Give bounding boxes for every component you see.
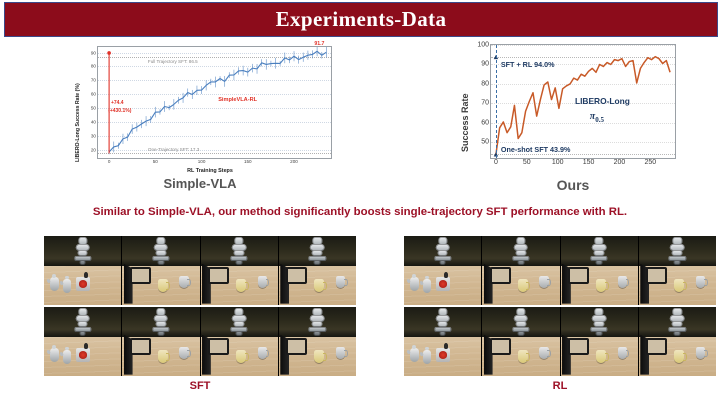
filmstrip-frame [482,236,560,305]
annotation-benchmark-name: LIBERO-Long [575,96,630,106]
robot-segment [79,260,86,265]
right-chart-caption: Ours [456,177,690,193]
slide-title-bar: Experiments-Data [4,2,718,37]
left-chart-y-axis-label: LIBERO-Long Success Rate (%) [75,83,81,162]
x-axis-tick: 100 [552,159,564,166]
robot-segment [157,260,164,265]
mug-grey [258,276,267,288]
kettle-spout [419,280,424,285]
filmstrip-frame [482,307,560,376]
filmstrip-frame [561,307,639,376]
stove-knob [444,272,448,278]
x-axis-tick: 100 [198,159,206,164]
robot-arm-top [151,237,171,266]
robot-segment [236,331,243,336]
filmstrip-frame [404,307,482,376]
x-axis-tick: 0 [108,159,111,164]
mug-grey [696,276,705,288]
robot-arm-top [229,308,249,337]
kettle-object [50,277,58,291]
mug-handle [323,282,327,290]
x-axis-tick: 250 [644,159,656,166]
stove-burner [79,280,88,287]
robot-arm-top [307,308,327,337]
kettle-object [423,279,431,293]
left-chart-plot-area: 2030405060708090050100150200Full Traject… [97,46,332,159]
gripper-arm [562,264,585,304]
mid-caption: Similar to Simple-VLA, our method signif… [0,206,720,218]
mug-handle [605,353,609,361]
y-axis-tick: 60 [481,119,489,126]
y-axis-tick: 80 [91,64,96,69]
annotation-delta-percent: (+430.1%) [108,108,131,114]
y-axis-tick: 80 [481,80,489,87]
mug-yellow [236,350,246,363]
annotation-full-trajectory-sft: Full Trajectory SFT: 86.5 [148,59,198,64]
mug-handle [245,353,249,361]
series-line [98,47,331,158]
y-axis-tick: 70 [481,100,489,107]
kettle-lid [52,274,56,278]
robot-arm-top [589,308,609,337]
robot-arm-top [511,308,531,337]
mug-handle [344,350,348,357]
gripper-panel [130,338,151,356]
robot-segment [236,260,243,265]
robot-arm-top [667,237,687,266]
mug-grey [696,347,705,359]
robot-segment [314,260,321,265]
stove-object [436,348,449,361]
filmstrip-frame [44,236,122,305]
annotation-sft-plus-rl: SFT + RL 94.0% [501,60,555,69]
robot-segment [157,331,164,336]
annotation-one-shot-sft: One-shot SFT 43.9% [501,145,571,154]
y-axis-tick: 50 [481,139,489,146]
page-title: Experiments-Data [276,7,447,32]
kettle-spout [59,351,64,356]
filmstrip-frame [639,236,716,305]
filmstrip-frame [122,307,200,376]
filmstrip-row [404,307,716,376]
robot-segment [596,331,603,336]
kettle-lid [52,345,56,349]
filmstrip-label-sft: SFT [44,380,356,392]
annotation-one-trajectory-sft: One-Trajectory SFT: 17.3 [148,147,199,152]
series-legend-label: SimpleVLA-RL [218,97,257,103]
kettle-object [63,279,71,293]
reference-vline [496,45,497,158]
left-chart-x-axis-label: RL Training Steps [76,168,344,174]
filmstrip-frame [122,236,200,305]
x-axis-tick: 150 [244,159,252,164]
gripper-arm [484,335,507,375]
mug-handle [344,279,348,286]
kettle-lid [425,276,429,280]
mug-handle [683,282,687,290]
gripper-panel [568,338,589,356]
filmstrip-sft: SFT [44,236,356,376]
mug-yellow [314,279,324,292]
kettle-object [410,277,418,291]
kettle-object [63,350,71,364]
mug-grey [618,276,627,288]
gripper-arm [202,264,225,304]
mug-grey [258,347,267,359]
x-axis-tick: 50 [523,159,531,166]
y-axis-tick: 30 [91,133,96,138]
y-axis-tick: 60 [91,92,96,97]
robot-segment [674,260,681,265]
mug-handle [323,353,327,361]
kettle-object [410,348,418,362]
stove-burner [79,351,88,358]
chart-simple-vla: LIBERO-Long Success Rate (%) 20304050607… [66,40,334,185]
filmstrip-frame [44,307,122,376]
mug-handle [605,282,609,290]
kettle-spout [59,280,64,285]
right-chart-plot-area: 5060708090100050100150200250SFT + RL 94.… [490,44,676,159]
x-axis-tick: 50 [153,159,158,164]
mug-yellow [518,350,528,363]
filmstrip-row [44,236,356,305]
annotation-model-name: π0.5 [590,111,604,124]
left-chart-caption: Simple-VLA [66,176,334,191]
kettle-lid [425,347,429,351]
gripper-arm [202,335,225,375]
annotation-peak-value: 91.7 [314,41,324,47]
robot-segment [596,260,603,265]
mug-handle [245,282,249,290]
kettle-spout [419,351,424,356]
robot-segment [79,331,86,336]
filmstrip-frame [201,307,279,376]
charts-row: LIBERO-Long Success Rate (%) 20304050607… [0,38,720,198]
mug-yellow [596,350,606,363]
stove-knob [444,343,448,349]
filmstrip-row [404,236,716,305]
y-axis-tick: 20 [91,147,96,152]
mug-handle [704,279,708,286]
filmstrip-frame [279,307,356,376]
robot-segment [439,260,446,265]
gripper-arm [124,264,147,304]
gripper-arm [640,264,663,304]
robot-arm-top [307,237,327,266]
robot-segment [674,331,681,336]
mug-grey [336,347,345,359]
kettle-lid [65,347,69,351]
right-chart-y-axis-label: Success Rate [460,93,470,152]
mug-yellow [674,350,684,363]
mug-yellow [236,279,246,292]
robot-arm-top [433,237,453,266]
filmstrip-frame [561,236,639,305]
mug-yellow [518,279,528,292]
robot-arm-top [229,237,249,266]
gripper-arm [484,264,507,304]
filmstrip-row [44,307,356,376]
robot-arm-top [151,308,171,337]
gripper-panel [568,267,589,285]
mug-grey [179,276,188,288]
mug-grey [179,347,188,359]
y-axis-tick: 70 [91,78,96,83]
robot-arm-top [433,308,453,337]
filmstrip-rl: RL [404,236,716,376]
gripper-panel [286,267,307,285]
y-axis-tick: 100 [477,42,489,49]
gripper-arm [280,335,303,375]
mug-handle [683,353,687,361]
y-axis-tick: 50 [91,106,96,111]
robot-segment [314,331,321,336]
stove-knob [84,272,88,278]
robot-arm-top [73,308,93,337]
pi-subscript: 0.5 [595,116,604,124]
gripper-panel [130,267,151,285]
gripper-arm [124,335,147,375]
mug-yellow [596,279,606,292]
stove-object [76,277,89,290]
gripper-panel [490,338,511,356]
kettle-lid [65,276,69,280]
kettle-object [50,348,58,362]
y-axis-tick: 90 [481,61,489,68]
mug-grey [539,276,548,288]
gripper-arm [562,335,585,375]
filmstrip-frame [279,236,356,305]
mug-yellow [674,279,684,292]
mug-handle [704,350,708,357]
filmstrip-label-rl: RL [404,380,716,392]
x-axis-tick: 0 [494,159,498,166]
y-axis-tick: 40 [91,119,96,124]
robot-segment [517,260,524,265]
stove-burner [439,351,448,358]
robot-arm-top [511,237,531,266]
stove-object [76,348,89,361]
mug-grey [618,347,627,359]
stove-object [436,277,449,290]
stove-burner [439,280,448,287]
x-axis-tick: 200 [290,159,298,164]
x-axis-tick: 150 [583,159,595,166]
robot-arm-top [73,237,93,266]
gripper-panel [208,338,229,356]
mug-yellow [314,350,324,363]
y-axis-tick: 90 [91,50,96,55]
stove-knob [84,343,88,349]
gripper-panel [286,338,307,356]
robot-segment [439,331,446,336]
gripper-panel [208,267,229,285]
annotation-delta: +74.4 [111,100,124,106]
robot-segment [517,331,524,336]
kettle-lid [412,274,416,278]
mug-grey [539,347,548,359]
mug-yellow [158,279,168,292]
gripper-panel [646,267,667,285]
gripper-arm [640,335,663,375]
gripper-panel [646,338,667,356]
mug-grey [336,276,345,288]
gripper-arm [280,264,303,304]
filmstrip-frame [201,236,279,305]
chart-ours: Success Rate 506070809010005010015020025… [448,40,682,185]
kettle-lid [412,345,416,349]
filmstrip-frame [404,236,482,305]
robot-arm-top [589,237,609,266]
x-axis-tick: 200 [614,159,626,166]
gripper-panel [490,267,511,285]
robot-arm-top [667,308,687,337]
filmstrip-frame [639,307,716,376]
kettle-object [423,350,431,364]
mug-yellow [158,350,168,363]
